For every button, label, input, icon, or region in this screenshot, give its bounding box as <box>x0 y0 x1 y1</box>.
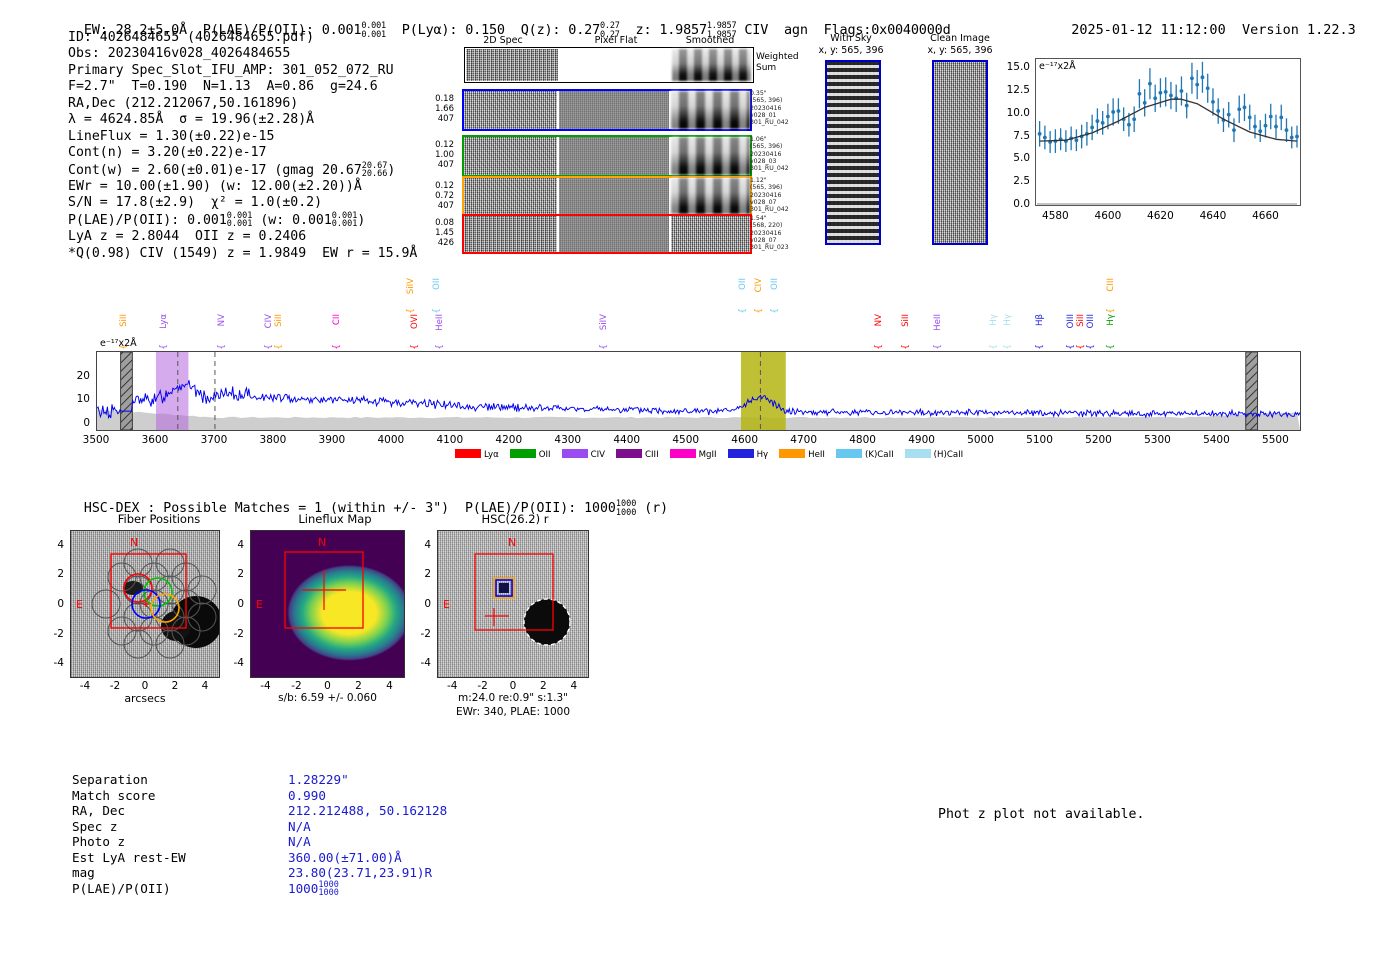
legend-swatch <box>670 449 696 458</box>
legend-label: CIII <box>645 450 659 460</box>
fiber-x-tick: 2 <box>172 680 179 692</box>
line-fit-x-tick: 4600 <box>1095 210 1122 222</box>
fiber-row-1-metadata: 0.35" (565, 396) 20230416 v028_01 301_RU… <box>750 90 789 126</box>
info-gmag-range: 20.6720.66 <box>362 162 388 179</box>
lineflux-x-tick: -2 <box>291 680 301 692</box>
hsc-x-tick: 0 <box>510 680 517 692</box>
fiber-row-4-left-stats: 0.08 1.45 426 <box>424 218 454 248</box>
fiber-y-tick: 2 <box>44 568 64 580</box>
header-datetime: 2025-01-12 11:12:00 <box>1071 22 1225 38</box>
panel-title-lineflux-map: Lineflux Map <box>240 512 430 526</box>
line-fit-x-tick: 4660 <box>1252 210 1279 222</box>
legend-swatch <box>510 449 536 458</box>
full-spectrum-plot: e⁻¹⁷x2Å <box>96 351 1301 431</box>
spectrum-line-label: Lyα <box>159 314 169 329</box>
info-redshifts: LyA z = 2.8044 OII z = 0.2406 <box>68 229 417 245</box>
spectrum-line-label: NV <box>217 314 227 326</box>
fiber-y-tick: 0 <box>44 598 64 610</box>
info-obs: Obs: 20230416v028_4026484655 <box>68 46 417 62</box>
spectrum-line-brace: { <box>1035 344 1045 350</box>
spectrum-x-tick: 5500 <box>1262 434 1289 446</box>
legend-label: (H)CaII <box>934 450 964 460</box>
hsc-panel-north-label: N <box>508 536 516 549</box>
spectrum-line-label: NV <box>874 314 884 326</box>
spectrum-line-brace: { <box>1003 344 1013 350</box>
match-value: 0.990 <box>288 788 326 804</box>
col-title-pixelflat: Pixel Flat <box>578 35 654 46</box>
spectrum-line-label: OII <box>738 278 748 290</box>
legend-label: (K)CaII <box>865 450 894 460</box>
object-info-block: ID: 4026484655 (4026484655.pdf) Obs: 202… <box>68 30 417 262</box>
legend-item: CIII <box>616 449 659 460</box>
hsc-panel-caption2: EWr: 340, PLAE: 1000 <box>437 706 589 718</box>
fiber-4-pixelflat-image <box>559 216 669 252</box>
spectrum-line-label: OII <box>770 278 780 290</box>
info-primary-spec: Primary Spec_Slot_IFU_AMP: 301_052_072_R… <box>68 63 417 79</box>
legend-swatch <box>616 449 642 458</box>
fiber-3-smoothed-image <box>671 178 750 214</box>
hsc-image-panel <box>437 530 589 678</box>
spectrum-line-brace: { <box>217 344 227 350</box>
hsc-panel-east-label: E <box>443 598 450 611</box>
weighted-sum-2dspec-image <box>466 49 558 81</box>
match-value: 23.80(23.71,23.91)R <box>288 865 432 881</box>
hsc-y-tick: 2 <box>411 568 431 580</box>
fiber-2-pixelflat-image <box>559 137 669 175</box>
weighted-sum-row <box>464 47 754 83</box>
line-fit-y-tick: 12.5 <box>996 84 1030 96</box>
cutout-2-title-text: Clean Image <box>912 33 1008 45</box>
spectrum-line-brace: { <box>274 344 284 350</box>
hscdex-header-suffix: (r) <box>636 501 668 516</box>
spectrum-line-brace: { <box>432 308 442 314</box>
hsc-x-tick: -2 <box>477 680 487 692</box>
spectrum-line-label: CIII <box>1106 278 1116 292</box>
match-key: Est LyA rest-EW <box>72 850 186 866</box>
info-lineflux: LineFlux = 1.30(±0.22)e-15 <box>68 129 417 145</box>
weighted-sum-smoothed-image <box>672 49 751 81</box>
spectrum-line-brace: { <box>264 344 274 350</box>
match-key: RA, Dec <box>72 803 125 819</box>
col-title-smoothed: Smoothed <box>672 35 748 46</box>
match-key: Separation <box>72 772 148 788</box>
header-classification: agn <box>784 22 808 38</box>
spectrum-line-brace: { <box>933 344 943 350</box>
weighted-sum-label: Weighted Sum <box>756 52 799 74</box>
lineflux-x-tick: 4 <box>386 680 393 692</box>
spectrum-line-label: CII <box>332 314 342 325</box>
legend-label: Hγ <box>757 450 769 460</box>
spectrum-legend: LyαOIICIVCIIIMgIIHγHeII(K)CaII(H)CaII <box>455 444 974 463</box>
fiber-row-3 <box>462 176 752 216</box>
spectrum-y-tick: 20 <box>62 370 90 382</box>
fiber-3-pixelflat-image <box>559 178 669 214</box>
fiber-4-smoothed-image <box>671 216 750 252</box>
lineflux-y-tick: 4 <box>224 539 244 551</box>
spectrum-line-brace: { <box>770 308 780 314</box>
header-version: Version 1.22.3 <box>1242 22 1356 38</box>
match-value-text: 1000 <box>288 881 318 896</box>
lineflux-y-tick: 2 <box>224 568 244 580</box>
spectrum-line-label: HeII <box>933 314 943 331</box>
match-value: 360.00(±71.00)Å <box>288 850 402 866</box>
header-timestamp-version: 2025-01-12 11:12:00 Version 1.22.3 <box>1055 6 1356 38</box>
fiber-1-pixelflat-image <box>559 91 669 129</box>
hscdex-plae-range: 10001000 <box>616 500 636 517</box>
legend-label: Lyα <box>484 450 499 460</box>
info-plae-range: 0.0010.001 <box>227 212 253 229</box>
spectrum-line-brace: { <box>406 308 416 314</box>
line-fit-svg <box>1035 58 1301 206</box>
legend-swatch <box>905 449 931 458</box>
fiber-panel-east-label: E <box>76 598 83 611</box>
clean-image <box>932 60 988 245</box>
legend-item: (H)CaII <box>905 449 964 460</box>
info-snr: S/N = 17.8(±2.9) χ² = 1.0(±0.2) <box>68 195 417 211</box>
legend-label: CIV <box>591 450 605 460</box>
hsc-overlay <box>437 530 589 678</box>
lineflux-map-panel <box>250 530 405 678</box>
legend-item: Lyα <box>455 449 499 460</box>
info-qz-line: *Q(0.98) CIV (1549) z = 1.9849 EW r = 15… <box>68 246 417 262</box>
fiber-4-2dspec-image <box>464 216 557 252</box>
lineflux-x-tick: 0 <box>324 680 331 692</box>
line-fit-y-tick: 15.0 <box>996 61 1030 73</box>
match-value: 212.212488, 50.162128 <box>288 803 447 819</box>
legend-swatch <box>728 449 754 458</box>
hsc-y-tick: 4 <box>411 539 431 551</box>
match-value: N/A <box>288 834 311 850</box>
info-cont-n: Cont(n) = 3.20(±0.22)e-17 <box>68 145 417 161</box>
spectrum-line-brace: { <box>754 308 764 314</box>
spectrum-x-tick: 3800 <box>260 434 287 446</box>
hsc-x-tick: -4 <box>447 680 457 692</box>
spectrum-line-label: SiIV <box>599 314 609 330</box>
spectrum-line-brace: { <box>901 344 911 350</box>
fiber-positions-panel <box>70 530 220 678</box>
legend-item: OII <box>510 449 551 460</box>
match-value: 1.28229" <box>288 772 349 788</box>
spectrum-x-tick: 3900 <box>319 434 346 446</box>
hsc-y-tick: 0 <box>411 598 431 610</box>
cutout-2-subtitle: x, y: 565, 396 <box>912 45 1008 57</box>
spectrum-line-label: OIII <box>1086 314 1096 328</box>
spectrum-y-tick: 0 <box>62 417 90 429</box>
fiber-panel-north-label: N <box>130 536 138 549</box>
lineflux-y-tick: -2 <box>224 628 244 640</box>
info-ewr: EWr = 10.00(±1.90) (w: 12.00(±2.20))Å <box>68 179 417 195</box>
info-seeing: F=2.7" T=0.190 N=1.13 A=0.86 g=24.6 <box>68 79 417 95</box>
fiber-row-3-left-stats: 0.12 0.72 407 <box>424 181 454 211</box>
lineflux-panel-north-label: N <box>318 536 326 549</box>
spectrum-x-tick: 5400 <box>1203 434 1230 446</box>
legend-item: (K)CaII <box>836 449 894 460</box>
fiber-row-3-metadata: 1.12" (565, 396) 20230416 v028_07 301_RU… <box>750 177 789 213</box>
legend-item: CIV <box>562 449 605 460</box>
legend-item: MgII <box>670 449 717 460</box>
cutout-2-title: Clean Image x, y: 565, 396 <box>912 33 1008 57</box>
legend-item: Hγ <box>728 449 769 460</box>
fiber-1-smoothed-image <box>671 91 750 129</box>
fiber-row-2-left-stats: 0.12 1.00 407 <box>424 140 454 170</box>
info-lambda: λ = 4624.85Å σ = 19.96(±2.28)Å <box>68 112 417 128</box>
spectrum-line-label: OII <box>432 278 442 290</box>
hsc-y-tick: -4 <box>411 657 431 669</box>
fiber-x-tick: -4 <box>80 680 90 692</box>
spectrum-x-tick: 5200 <box>1085 434 1112 446</box>
lineflux-map-overlay <box>250 530 405 678</box>
fiber-x-tick: -2 <box>110 680 120 692</box>
fiber-panel-xlabel: arcsecs <box>70 692 220 705</box>
fiber-y-tick: -2 <box>44 628 64 640</box>
match-value: 100010001000 <box>288 881 339 898</box>
hsc-panel-caption: m:24.0 re:0.9" s:1.3" <box>437 692 589 704</box>
legend-item: HeII <box>779 449 825 460</box>
legend-swatch <box>455 449 481 458</box>
spectrum-line-label: Hγ <box>1106 314 1116 326</box>
spectrum-line-brace: { <box>1106 308 1116 314</box>
line-fit-y-tick: 10.0 <box>996 107 1030 119</box>
lineflux-x-tick: 2 <box>355 680 362 692</box>
legend-label: MgII <box>699 450 717 460</box>
spectrum-svg <box>97 352 1300 430</box>
spectrum-units-annotation: e⁻¹⁷x2Å <box>100 338 137 349</box>
lineflux-y-tick: 0 <box>224 598 244 610</box>
spectrum-line-label: Hγ <box>989 314 999 326</box>
info-radec: RA,Dec (212.212067,50.161896) <box>68 96 417 112</box>
fiber-2-smoothed-image <box>671 137 750 175</box>
spectrum-line-brace: { <box>874 344 884 350</box>
spectrum-x-tick: 3600 <box>142 434 169 446</box>
fiber-row-1 <box>462 89 752 131</box>
match-key: mag <box>72 865 95 881</box>
spectrum-line-brace: { <box>159 344 169 350</box>
lineflux-x-tick: -4 <box>260 680 270 692</box>
fiber-x-tick: 4 <box>202 680 209 692</box>
match-value: N/A <box>288 819 311 835</box>
fiber-3-2dspec-image <box>464 178 557 214</box>
cutout-1-subtitle: x, y: 565, 396 <box>808 45 894 57</box>
spectrum-y-tick: 10 <box>62 393 90 405</box>
line-fit-x-tick: 4640 <box>1200 210 1227 222</box>
fiber-1-2dspec-image <box>464 91 557 129</box>
spectrum-line-label: OVI <box>410 314 420 329</box>
info-plae-w-range: 0.0010.001 <box>332 212 358 229</box>
fiber-x-tick: 0 <box>142 680 149 692</box>
spectrum-x-tick: 4000 <box>377 434 404 446</box>
fiber-row-4-metadata: 1.54" (568, 220) 20230416 v028_07 301_RU… <box>750 215 789 251</box>
legend-swatch <box>836 449 862 458</box>
match-plae-range: 10001000 <box>318 881 338 898</box>
with-sky-image <box>825 60 881 245</box>
spectrum-x-tick: 3500 <box>83 434 110 446</box>
spectrum-line-brace: { <box>599 344 609 350</box>
cutout-1-title-text: With Sky <box>808 33 894 45</box>
spectrum-line-brace: { <box>1076 344 1086 350</box>
spectrum-x-tick: 3700 <box>201 434 228 446</box>
spectrum-line-brace: { <box>738 308 748 314</box>
spectrum-line-brace: { <box>989 344 999 350</box>
lineflux-panel-caption: s/b: 6.59 +/- 0.060 <box>250 692 405 704</box>
spectrum-line-label: CIV <box>264 314 274 328</box>
line-fit-y-tick: 0.0 <box>996 198 1030 210</box>
line-fit-x-tick: 4580 <box>1042 210 1069 222</box>
hsc-y-tick: -2 <box>411 628 431 640</box>
spectrum-line-label: HeII <box>435 314 445 331</box>
fiber-y-tick: -4 <box>44 657 64 669</box>
spectrum-x-tick: 5100 <box>1026 434 1053 446</box>
line-fit-y-tick: 7.5 <box>996 130 1030 142</box>
spectrum-line-brace: { <box>410 344 420 350</box>
spectrum-line-label: SiIV <box>406 278 416 294</box>
hsc-x-tick: 4 <box>570 680 577 692</box>
spectrum-line-label: SiII <box>119 314 129 327</box>
spectrum-line-label: SiII <box>1076 314 1086 327</box>
spectrum-line-brace: { <box>332 344 342 350</box>
match-key: Photo z <box>72 834 125 850</box>
match-key: P(LAE)/P(OII) <box>72 881 171 897</box>
spectrum-line-label: OIII <box>1066 314 1076 328</box>
lineflux-panel-east-label: E <box>256 598 263 611</box>
fiber-row-1-left-stats: 0.18 1.66 407 <box>424 94 454 124</box>
legend-swatch <box>779 449 805 458</box>
spectrum-line-brace: { <box>1086 344 1096 350</box>
hsc-x-tick: 2 <box>540 680 547 692</box>
legend-swatch <box>562 449 588 458</box>
spectrum-line-label: Hγ <box>1003 314 1013 326</box>
info-cont-w: Cont(w) = 2.60(±0.01)e-17 (gmag 20.6720.… <box>68 162 417 179</box>
panel-title-hsc-r: HSC(26.2) r <box>420 512 610 526</box>
spectrum-line-brace: { <box>435 344 445 350</box>
match-plae-lo: 1000 <box>318 889 338 898</box>
fiber-2-2dspec-image <box>464 137 557 175</box>
fiber-row-2-metadata: 1.06" (565, 396) 20230416 v028_03 301_RU… <box>750 136 789 172</box>
spectrum-line-label: SiII <box>274 314 284 327</box>
panel-title-fiber-positions: Fiber Positions <box>64 512 254 526</box>
line-fit-y-tick: 2.5 <box>996 175 1030 187</box>
cutout-1-title: With Sky x, y: 565, 396 <box>808 33 894 57</box>
fiber-positions-overlay <box>70 530 220 678</box>
line-fit-x-tick: 4620 <box>1147 210 1174 222</box>
match-key: Spec z <box>72 819 118 835</box>
line-fit-y-tick: 5.0 <box>996 152 1030 164</box>
spectrum-line-brace: { <box>1106 344 1116 350</box>
weighted-sum-pixelflat-image <box>560 49 670 81</box>
spectrum-line-label: Hβ <box>1035 314 1045 326</box>
line-fit-plot: e⁻¹⁷x2Å <box>1035 58 1301 206</box>
info-id: ID: 4026484655 (4026484655.pdf) <box>68 30 417 46</box>
spectrum-line-labels: SiII{Lyα{NV{CIV{SiII{CII{OVI{HeII{SiIV{O… <box>0 278 1400 351</box>
fiber-y-tick: 4 <box>44 539 64 551</box>
col-title-2dspec: 2D Spec <box>466 35 540 46</box>
spectrum-x-tick: 5300 <box>1144 434 1171 446</box>
fiber-row-4 <box>462 214 752 254</box>
spectrum-line-label: SiII <box>901 314 911 327</box>
photz-unavailable-message: Phot z plot not available. <box>938 807 1144 822</box>
spectrum-line-label: CIV <box>754 278 764 292</box>
lineflux-y-tick: -4 <box>224 657 244 669</box>
spectrum-line-brace: { <box>1066 344 1076 350</box>
fiber-row-2 <box>462 135 752 177</box>
legend-label: OII <box>539 450 551 460</box>
info-plae: P(LAE)/P(OII): 0.0010.0010.001 (w: 0.001… <box>68 212 417 229</box>
legend-label: HeII <box>808 450 825 460</box>
match-key: Match score <box>72 788 155 804</box>
